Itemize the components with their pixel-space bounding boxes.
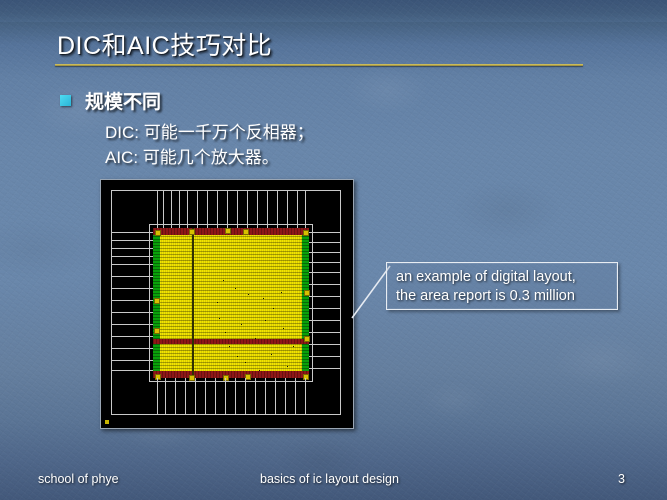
core-detail-speck [259,370,260,371]
route-line-vertical [285,378,286,414]
route-line-horizontal [309,344,340,345]
core-detail-speck [235,288,236,289]
callout-line-2: the area report is 0.3 million [396,287,608,306]
title-divider [55,64,583,66]
core-right-power-ring [302,228,309,378]
core-detail-speck [287,366,288,367]
core-detail-speck [217,302,218,303]
core-detail-speck [273,308,274,309]
route-line-vertical [195,378,196,414]
route-line-vertical [297,191,298,228]
sub-line-aic: AIC: 可能几个放大器。 [105,143,279,168]
core-detail-speck [237,356,238,357]
ic-core-block [153,228,309,378]
core-detail-speck [229,346,230,347]
core-pin-marker [225,228,231,234]
square-bullet-icon [60,95,71,106]
bullet-heading-label: 规模不同 [85,87,161,114]
route-line-vertical [275,378,276,414]
footer-page-number: 3 [618,472,625,486]
route-line-vertical [340,190,341,414]
route-line-horizontal [309,320,340,321]
route-line-vertical [187,191,188,228]
route-line-horizontal [111,190,341,191]
route-line-horizontal [112,370,153,371]
core-detail-speck [283,328,284,329]
route-line-horizontal [112,348,153,349]
core-detail-speck [293,346,294,347]
core-top-band [153,228,309,235]
route-line-vertical [163,191,164,228]
route-line-vertical [245,378,246,414]
callout-line-1: an example of digital layout, [396,268,608,287]
core-detail-speck [225,332,226,333]
route-line-vertical [149,224,150,382]
route-line-horizontal [112,276,153,277]
slide: DIC和AIC技巧对比 规模不同 DIC: 可能一千万个反相器； AIC: 可能… [0,0,667,500]
core-detail-speck [271,354,272,355]
route-line-horizontal [309,242,340,243]
route-line-horizontal [309,356,340,357]
core-pin-marker [304,336,310,342]
core-pin-marker [243,229,249,235]
route-line-horizontal [112,256,153,257]
ic-layout-figure [100,179,354,429]
core-pin-marker [155,374,161,380]
route-line-vertical [165,378,166,414]
route-line-vertical [287,191,288,228]
route-line-horizontal [309,296,340,297]
route-line-horizontal [112,264,153,265]
core-pin-marker [155,230,161,236]
route-line-horizontal [149,224,313,225]
route-line-vertical [257,191,258,228]
route-line-horizontal [309,332,340,333]
route-line-vertical [247,191,248,228]
route-line-horizontal [112,300,153,301]
route-line-vertical [217,191,218,228]
route-line-horizontal [309,252,340,253]
route-line-horizontal [309,272,340,273]
core-bottom-band [153,371,309,378]
route-line-horizontal [112,248,153,249]
route-line-vertical [255,378,256,414]
route-line-horizontal [309,308,340,309]
route-line-vertical [197,191,198,228]
footer-left-label: school of phye [38,472,119,486]
sub-line-dic: DIC: 可能一千万个反相器； [105,118,314,143]
route-line-vertical [205,378,206,414]
route-line-horizontal [112,324,153,325]
core-pin-marker [303,230,309,236]
route-line-vertical [171,191,172,228]
route-line-vertical [157,191,158,228]
core-pin-marker [154,298,160,304]
route-line-vertical [157,378,158,414]
footer-center-label: basics of ic layout design [260,472,399,486]
origin-marker-icon [105,420,109,424]
route-line-horizontal [112,288,153,289]
ic-layout-canvas [101,180,353,428]
route-line-horizontal [309,232,340,233]
core-pin-marker [189,229,195,235]
core-detail-speck [223,280,224,281]
route-line-vertical [185,378,186,414]
bullet-heading-row: 规模不同 [60,87,161,114]
route-line-vertical [267,191,268,228]
route-line-vertical [237,191,238,228]
route-line-horizontal [309,368,340,369]
route-line-horizontal [111,414,341,415]
core-detail-speck [263,298,264,299]
core-detail-speck [248,294,249,295]
core-detail-speck [281,292,282,293]
route-line-horizontal [112,312,153,313]
core-detail-speck [245,362,246,363]
core-detail-speck [219,318,220,319]
route-line-vertical [235,378,236,414]
core-pin-marker [154,328,160,334]
route-line-horizontal [112,240,153,241]
route-line-horizontal [112,336,153,337]
core-vertical-divider [192,228,194,378]
core-middle-band [153,339,309,344]
core-detail-speck [255,338,256,339]
route-line-vertical [215,378,216,414]
route-line-vertical [111,190,112,414]
callout-box: an example of digital layout, the area r… [386,262,618,310]
route-line-vertical [312,224,313,382]
route-line-vertical [295,378,296,414]
route-line-horizontal [309,284,340,285]
route-line-vertical [227,191,228,228]
core-detail-speck [265,320,266,321]
route-line-vertical [305,378,306,414]
top-band [0,0,667,22]
route-line-horizontal [112,360,153,361]
route-line-vertical [207,191,208,228]
route-line-vertical [277,191,278,228]
core-detail-speck [241,324,242,325]
route-line-horizontal [309,262,340,263]
route-line-horizontal [149,381,313,382]
route-line-vertical [225,378,226,414]
route-line-vertical [175,378,176,414]
route-line-vertical [179,191,180,228]
core-pin-marker [303,374,309,380]
page-title: DIC和AIC技巧对比 [57,26,272,62]
route-line-vertical [265,378,266,414]
route-line-horizontal [112,232,153,233]
route-line-vertical [305,191,306,228]
